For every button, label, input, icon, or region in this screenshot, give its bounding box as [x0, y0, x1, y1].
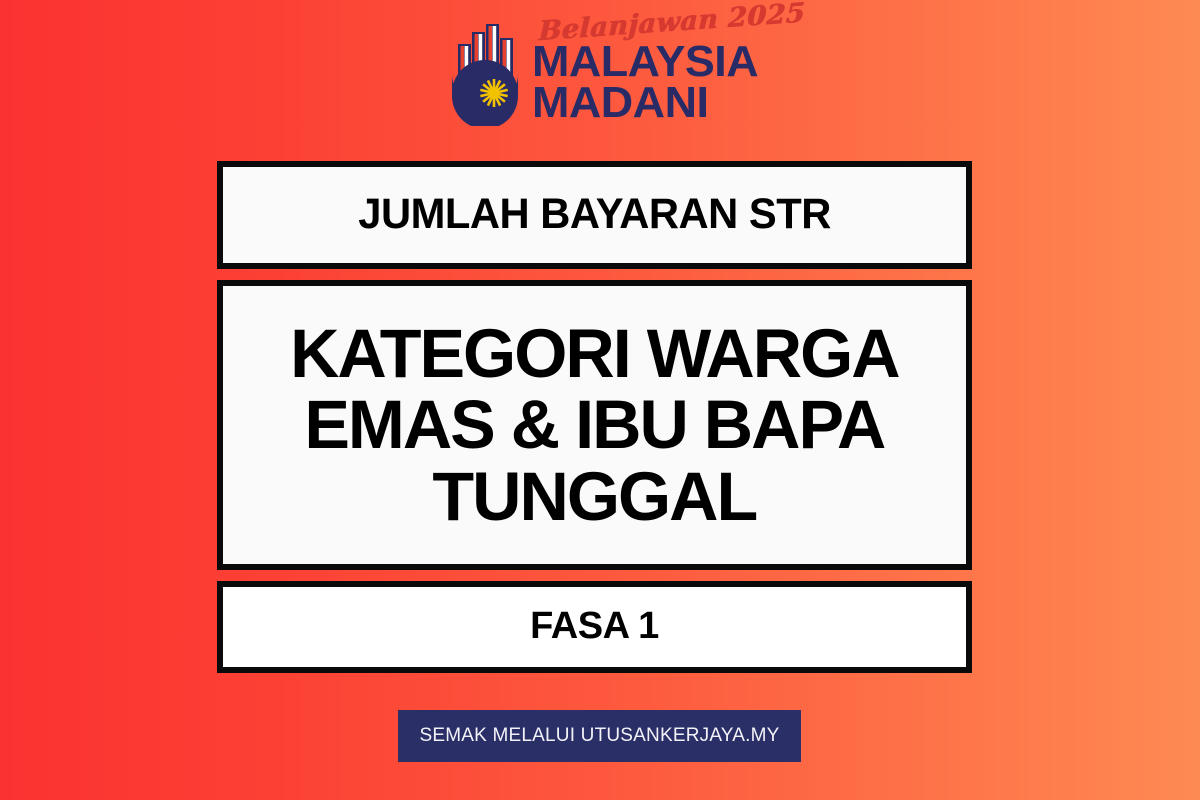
- category-line-2: EMAS & IBU BAPA: [290, 389, 899, 460]
- payment-total-card: JUMLAH BAYARAN STR: [217, 161, 972, 269]
- card-stack: JUMLAH BAYARAN STR KATEGORI WARGA EMAS &…: [217, 161, 972, 673]
- phase-card: FASA 1: [217, 581, 972, 673]
- payment-total-label: JUMLAH BAYARAN STR: [358, 191, 831, 238]
- category-card: KATEGORI WARGA EMAS & IBU BAPA TUNGGAL: [217, 280, 972, 570]
- logo-wordmark: Belanjawan 2025 MALAYSIA MADANI: [532, 42, 754, 126]
- check-source-banner-label: SEMAK MELALUI UTUSANKERJAYA.MY: [419, 725, 779, 747]
- wordmark-malaysia: MALAYSIA: [532, 42, 758, 83]
- check-source-banner[interactable]: SEMAK MELALUI UTUSANKERJAYA.MY: [398, 710, 801, 762]
- category-line-1: KATEGORI WARGA: [290, 318, 899, 389]
- wordmark-madani: MADANI: [532, 83, 708, 124]
- phase-label: FASA 1: [530, 606, 659, 648]
- malaysia-madani-logo-icon: [446, 22, 524, 126]
- poster-canvas: Belanjawan 2025 MALAYSIA MADANI JUMLAH B…: [0, 0, 1200, 800]
- category-line-3: TUNGGAL: [290, 461, 899, 532]
- category-label: KATEGORI WARGA EMAS & IBU BAPA TUNGGAL: [290, 318, 899, 531]
- malaysia-madani-logo: Belanjawan 2025 MALAYSIA MADANI: [0, 22, 1200, 140]
- logo-inner-group: Belanjawan 2025 MALAYSIA MADANI: [446, 22, 754, 126]
